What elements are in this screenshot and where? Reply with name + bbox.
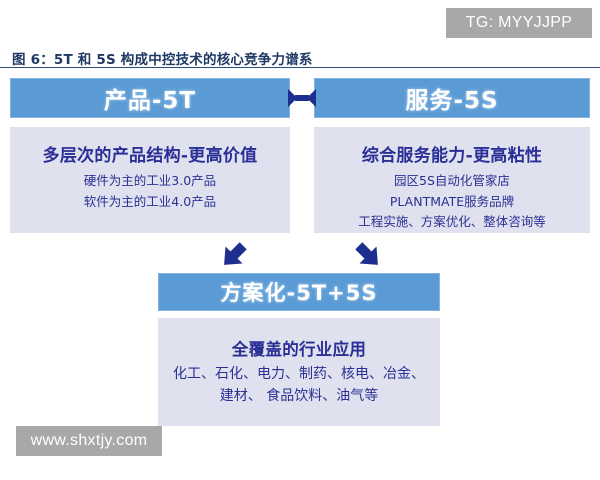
header-bar-product-5t-label: 产品-5T (104, 81, 196, 115)
double-arrow-horizontal-icon (287, 87, 317, 109)
header-bar-service-5s-label: 服务-5S (405, 81, 498, 115)
arrow-down-left-icon (352, 239, 384, 271)
panel-service-5s-heading: 综合服务能力-更高粘性 (314, 141, 590, 166)
panel-service-5s-line-1: 园区5S自动化管家店 (314, 171, 590, 192)
header-bar-solution-5t-5s-label: 方案化-5T+5S (221, 277, 378, 307)
diagram-canvas: 图 6：5T 和 5S 构成中控技术的核心竞争力谱系 产品-5T 多层次的产品结… (0, 0, 600, 480)
panel-industry-applications-heading: 全覆盖的行业应用 (158, 336, 440, 360)
panel-product-5t: 多层次的产品结构-更高价值 硬件为主的工业3.0产品 软件为主的工业4.0产品 (10, 127, 290, 233)
panel-industry-applications-line-1: 化工、石化、电力、制药、核电、冶金、 (158, 364, 440, 386)
panel-service-5s-line-2: PLANTMATE服务品牌 (314, 192, 590, 213)
panel-product-5t-line-1: 硬件为主的工业3.0产品 (10, 171, 290, 192)
header-bar-product-5t: 产品-5T (10, 78, 290, 118)
panel-industry-applications: 全覆盖的行业应用 化工、石化、电力、制药、核电、冶金、 建材、 食品饮料、油气等 (158, 318, 440, 426)
panel-product-5t-heading: 多层次的产品结构-更高价值 (10, 141, 290, 166)
panel-service-5s: 综合服务能力-更高粘性 园区5S自动化管家店 PLANTMATE服务品牌 工程实… (314, 127, 590, 233)
panel-product-5t-line-2: 软件为主的工业4.0产品 (10, 192, 290, 213)
header-bar-service-5s: 服务-5S (314, 78, 590, 118)
watermark-top-right: TG: MYYJJPP (446, 8, 592, 38)
panel-service-5s-line-3: 工程实施、方案优化、整体咨询等 (314, 212, 590, 233)
figure-title: 图 6：5T 和 5S 构成中控技术的核心竞争力谱系 (12, 48, 313, 68)
watermark-bottom-left: www.shxtjy.com (16, 426, 162, 456)
title-divider (0, 67, 600, 68)
panel-industry-applications-line-2: 建材、 食品饮料、油气等 (158, 386, 440, 408)
header-bar-solution-5t-5s: 方案化-5T+5S (158, 273, 440, 311)
arrow-down-right-icon (218, 239, 250, 271)
